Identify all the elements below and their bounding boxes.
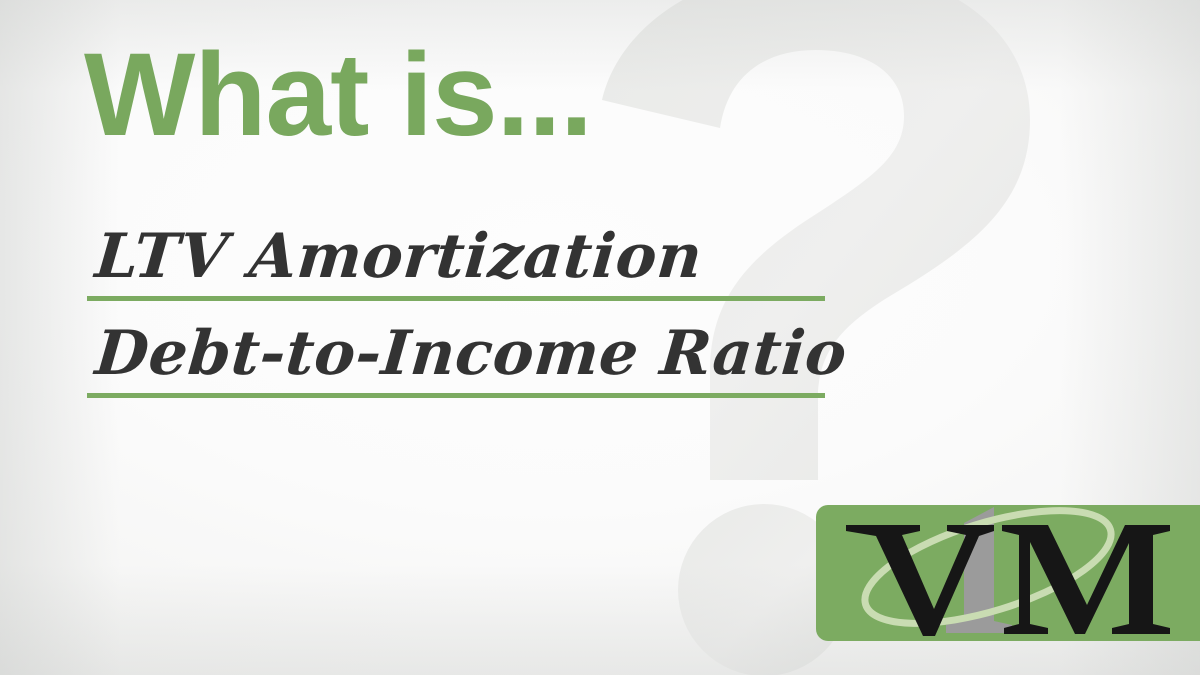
topic-underline-rule xyxy=(87,393,825,398)
logo-badge xyxy=(816,505,1200,641)
slide-canvas: What is... LTV Amortization Debt-to-Inco… xyxy=(0,0,1200,675)
list-item: Debt-to-Income Ratio xyxy=(87,301,827,398)
topic-label-ltv-amortization: LTV Amortization xyxy=(93,226,705,287)
topic-list: LTV Amortization Debt-to-Income Ratio xyxy=(87,204,827,398)
list-item: LTV Amortization xyxy=(87,204,827,301)
topic-label-debt-to-income-ratio: Debt-to-Income Ratio xyxy=(93,323,849,384)
page-title: What is... xyxy=(84,36,592,154)
